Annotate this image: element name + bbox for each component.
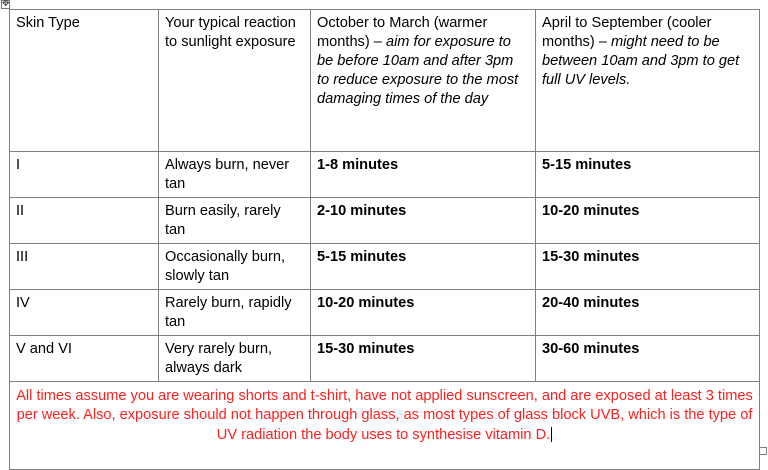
footer-note-text: All times assume you are wearing shorts … <box>16 388 753 443</box>
table-row: III Occasionally burn, slowly tan 5-15 m… <box>10 243 760 289</box>
cell-reaction[interactable]: Burn easily, rarely tan <box>159 197 311 243</box>
table-row: IV Rarely burn, rapidly tan 10-20 minute… <box>10 289 760 335</box>
time-value-october-to-march: 10-20 minutes <box>317 295 414 311</box>
cell-reaction[interactable]: Occasionally burn, slowly tan <box>159 243 311 289</box>
header-label-reaction: Your typical reaction to sunlight exposu… <box>165 15 296 50</box>
cell-october-to-march[interactable]: 5-15 minutes <box>311 243 536 289</box>
skin-type-value: V and VI <box>16 341 72 357</box>
header-cell-april-to-september[interactable]: April to September (cooler months) – mig… <box>536 10 760 152</box>
reaction-value: Occasionally burn, slowly tan <box>165 249 285 284</box>
cell-october-to-march[interactable]: 1-8 minutes <box>311 152 536 198</box>
cell-april-to-september[interactable]: 10-20 minutes <box>536 197 760 243</box>
skin-type-value: IV <box>16 295 30 311</box>
cell-skin-type[interactable]: IV <box>10 289 159 335</box>
cell-skin-type[interactable]: V and VI <box>10 335 159 381</box>
time-value-april-to-september: 5-15 minutes <box>542 157 631 173</box>
table-resize-handle[interactable] <box>759 447 767 455</box>
header-cell-reaction[interactable]: Your typical reaction to sunlight exposu… <box>159 10 311 152</box>
cell-reaction[interactable]: Always burn, never tan <box>159 152 311 198</box>
time-value-april-to-september: 20-40 minutes <box>542 295 639 311</box>
skin-type-value: III <box>16 249 28 265</box>
document-canvas: ✥ Skin Type Your typical reaction to sun… <box>0 0 768 456</box>
reaction-value: Rarely burn, rapidly tan <box>165 295 292 330</box>
header-cell-october-to-march[interactable]: October to March (warmer months) – aim f… <box>311 10 536 152</box>
cell-october-to-march[interactable]: 2-10 minutes <box>311 197 536 243</box>
reaction-value: Very rarely burn, always dark <box>165 341 272 376</box>
skin-type-value: I <box>16 157 20 173</box>
time-value-october-to-march: 2-10 minutes <box>317 203 406 219</box>
cell-april-to-september[interactable]: 15-30 minutes <box>536 243 760 289</box>
cell-april-to-september[interactable]: 20-40 minutes <box>536 289 760 335</box>
table-row: V and VI Very rarely burn, always dark 1… <box>10 335 760 381</box>
cell-october-to-march[interactable]: 10-20 minutes <box>311 289 536 335</box>
move-cross-icon: ✥ <box>2 0 9 7</box>
table-row: II Burn easily, rarely tan 2-10 minutes … <box>10 197 760 243</box>
cell-october-to-march[interactable]: 15-30 minutes <box>311 335 536 381</box>
header-label-skin-type: Skin Type <box>16 15 80 31</box>
reaction-value: Always burn, never tan <box>165 157 289 192</box>
reaction-value: Burn easily, rarely tan <box>165 203 281 238</box>
time-value-april-to-september: 10-20 minutes <box>542 203 639 219</box>
cell-skin-type[interactable]: II <box>10 197 159 243</box>
time-value-april-to-september: 30-60 minutes <box>542 341 639 357</box>
cell-reaction[interactable]: Rarely burn, rapidly tan <box>159 289 311 335</box>
time-value-october-to-march: 1-8 minutes <box>317 157 398 173</box>
skin-type-uv-exposure-table: Skin Type Your typical reaction to sunli… <box>9 9 760 470</box>
cell-reaction[interactable]: Very rarely burn, always dark <box>159 335 311 381</box>
cell-skin-type[interactable]: I <box>10 152 159 198</box>
table-row: I Always burn, never tan 1-8 minutes 5-1… <box>10 152 760 198</box>
skin-type-value: II <box>16 203 24 219</box>
text-caret <box>551 427 552 442</box>
table-move-handle[interactable]: ✥ <box>1 0 10 9</box>
cell-april-to-september[interactable]: 5-15 minutes <box>536 152 760 198</box>
header-cell-skin-type[interactable]: Skin Type <box>10 10 159 152</box>
time-value-october-to-march: 5-15 minutes <box>317 249 406 265</box>
table-header-row: Skin Type Your typical reaction to sunli… <box>10 10 760 152</box>
cell-april-to-september[interactable]: 30-60 minutes <box>536 335 760 381</box>
time-value-april-to-september: 15-30 minutes <box>542 249 639 265</box>
time-value-october-to-march: 15-30 minutes <box>317 341 414 357</box>
table-body: Skin Type Your typical reaction to sunli… <box>10 10 760 470</box>
cell-skin-type[interactable]: III <box>10 243 159 289</box>
